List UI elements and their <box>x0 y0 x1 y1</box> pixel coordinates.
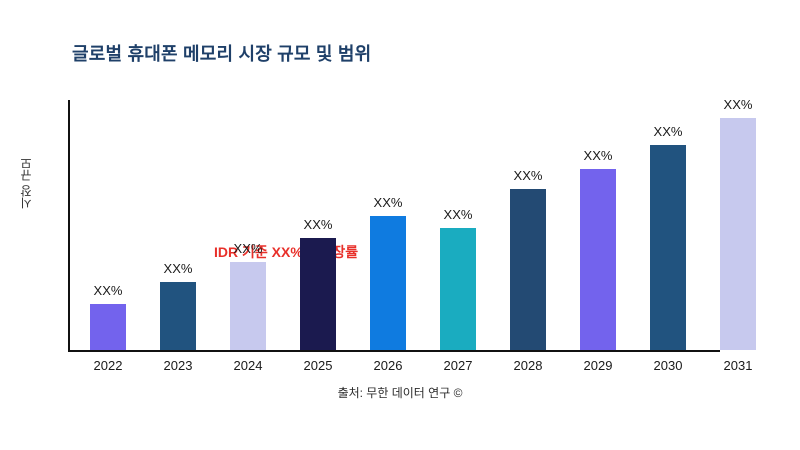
x-axis-tick-label: 2028 <box>514 358 543 373</box>
y-axis-line <box>68 100 70 352</box>
bar-value-label: XX% <box>304 217 333 232</box>
source-note: 출처: 무한 데이터 연구 © <box>0 384 800 401</box>
chart-canvas: 글로벌 휴대폰 메모리 시장 규모 및 범위 시장 규모 IDR 기준 XX%의… <box>0 0 800 450</box>
bar-group: XX%2025 <box>284 100 352 352</box>
bar[interactable] <box>160 282 196 350</box>
bar-value-label: XX% <box>164 261 193 276</box>
x-axis-tick-label: 2027 <box>444 358 473 373</box>
bar-value-label: XX% <box>584 148 613 163</box>
bar[interactable] <box>580 169 616 350</box>
bar-value-label: XX% <box>234 241 263 256</box>
bar-value-label: XX% <box>444 207 473 222</box>
bar-group: XX%2028 <box>494 100 562 352</box>
bar[interactable] <box>300 238 336 350</box>
chart-title: 글로벌 휴대폰 메모리 시장 규모 및 범위 <box>72 40 371 66</box>
bar[interactable] <box>370 216 406 350</box>
bar[interactable] <box>720 118 756 350</box>
bar-group: XX%2024 <box>214 100 282 352</box>
bar-value-label: XX% <box>514 168 543 183</box>
x-axis-tick-label: 2031 <box>724 358 753 373</box>
bar-group: XX%2023 <box>144 100 212 352</box>
bar-group: XX%2029 <box>564 100 632 352</box>
x-axis-tick-label: 2023 <box>164 358 193 373</box>
bar-value-label: XX% <box>374 195 403 210</box>
bar[interactable] <box>650 145 686 350</box>
plot-area: IDR 기준 XX%의 성장률 XX%2022XX%2023XX%2024XX%… <box>68 100 776 352</box>
bar-value-label: XX% <box>94 283 123 298</box>
bar-group: XX%2022 <box>74 100 142 352</box>
bar-group: XX%2026 <box>354 100 422 352</box>
x-axis-tick-label: 2029 <box>584 358 613 373</box>
bar-group: XX%2031 <box>704 100 772 352</box>
bar-group: XX%2030 <box>634 100 702 352</box>
bar-value-label: XX% <box>724 97 753 112</box>
x-axis-tick-label: 2024 <box>234 358 263 373</box>
x-axis-tick-label: 2025 <box>304 358 333 373</box>
x-axis-tick-label: 2026 <box>374 358 403 373</box>
bar[interactable] <box>510 189 546 350</box>
bar-group: XX%2027 <box>424 100 492 352</box>
y-axis-label: 시장 규모 <box>14 138 38 228</box>
x-axis-tick-label: 2022 <box>94 358 123 373</box>
x-axis-tick-label: 2030 <box>654 358 683 373</box>
bar[interactable] <box>440 228 476 350</box>
bar[interactable] <box>230 262 266 350</box>
bar-value-label: XX% <box>654 124 683 139</box>
bar[interactable] <box>90 304 126 350</box>
